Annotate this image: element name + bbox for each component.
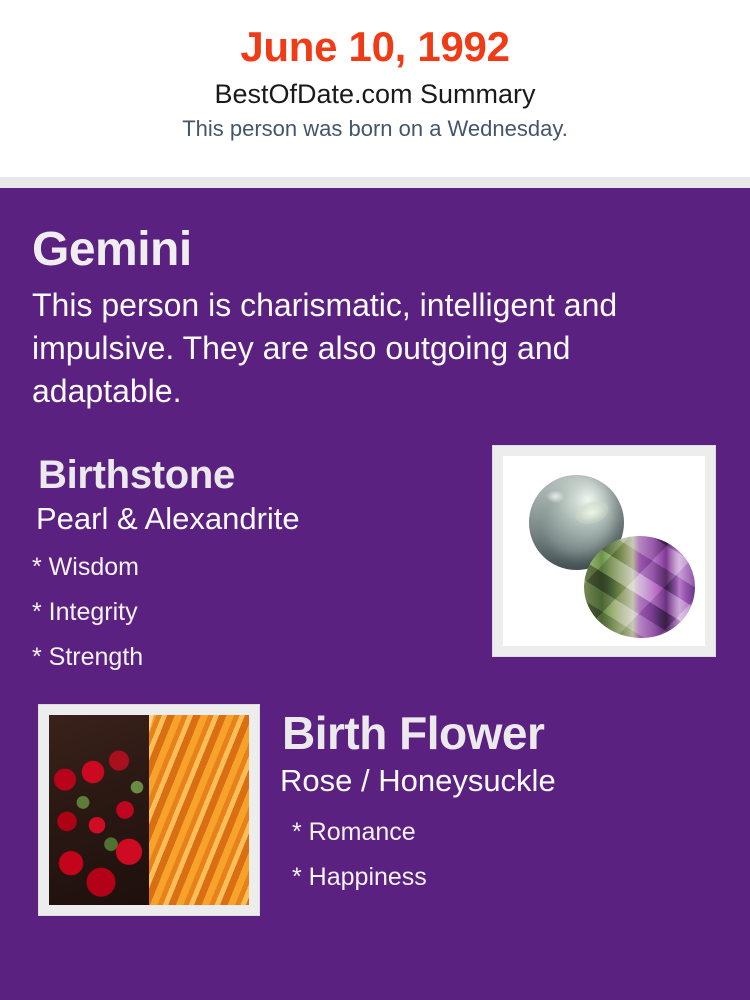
birthstone-text-group: Birthstone Pearl & Alexandrite * Wisdom … — [32, 445, 300, 680]
list-item: * Integrity — [32, 590, 300, 635]
gem-facets-overlay — [584, 536, 695, 639]
alexandrite-gem-icon — [584, 536, 695, 639]
page-title-date: June 10, 1992 — [0, 22, 750, 72]
page-header: June 10, 1992 BestOfDate.com Summary Thi… — [0, 0, 750, 177]
birth-flower-title: Birth Flower — [282, 706, 718, 760]
birth-flower-image — [49, 715, 249, 905]
site-summary-label: BestOfDate.com Summary — [0, 76, 750, 112]
birthstone-trait-list: * Wisdom * Integrity * Strength — [32, 545, 300, 680]
list-item: * Wisdom — [32, 545, 300, 590]
summary-panel: Gemini This person is charismatic, intel… — [0, 188, 750, 1000]
zodiac-description: This person is charismatic, intelligent … — [32, 284, 702, 413]
birthstone-section: Birthstone Pearl & Alexandrite * Wisdom … — [32, 445, 718, 680]
birthstone-image — [503, 456, 705, 646]
birth-flower-trait-list: * Romance * Happiness — [278, 810, 718, 900]
zodiac-section: Gemini This person is charismatic, intel… — [32, 188, 718, 413]
list-item: * Strength — [32, 635, 300, 680]
birthstone-title: Birthstone — [38, 451, 300, 499]
birth-flower-section: Birth Flower Rose / Honeysuckle * Romanc… — [32, 704, 718, 916]
list-item: * Romance — [292, 810, 718, 855]
birth-flower-names: Rose / Honeysuckle — [280, 760, 718, 802]
list-item: * Happiness — [292, 855, 718, 900]
header-divider — [0, 177, 750, 188]
zodiac-sign-title: Gemini — [32, 222, 718, 278]
birth-flower-text-group: Birth Flower Rose / Honeysuckle * Romanc… — [260, 704, 718, 900]
born-day-text: This person was born on a Wednesday. — [0, 114, 750, 144]
honeysuckle-photo — [149, 715, 249, 905]
red-roses-photo — [49, 715, 149, 905]
birthstone-names: Pearl & Alexandrite — [36, 499, 300, 539]
birthstone-image-frame — [492, 445, 716, 657]
birth-flower-image-frame — [38, 704, 260, 916]
